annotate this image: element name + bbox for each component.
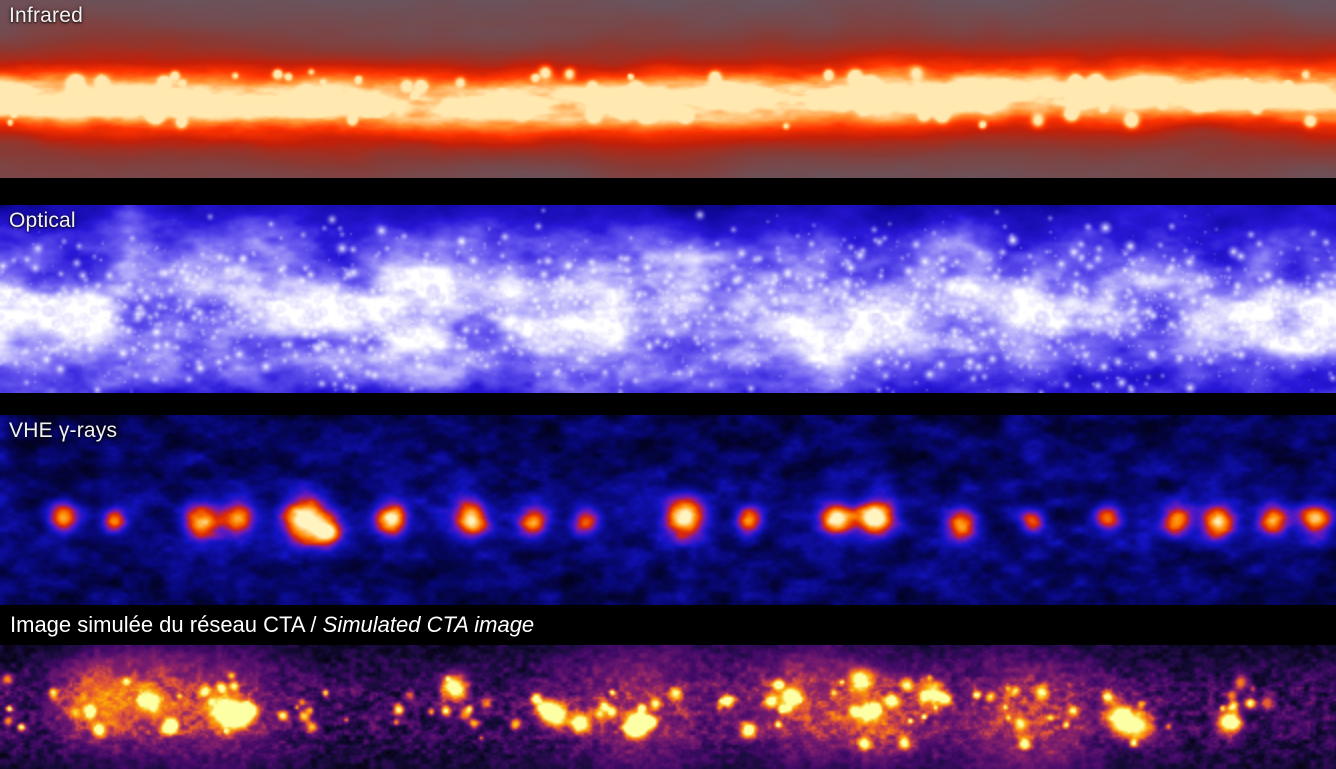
cta-caption: Image simulée du réseau CTA / Simulated … (0, 612, 534, 638)
caption-band: Image simulée du réseau CTA / Simulated … (0, 605, 1336, 645)
multiwavelength-figure: Infrared Optical VHE γ-rays Image simulé… (0, 0, 1336, 769)
panel-optical: Optical (0, 205, 1336, 393)
caption-english: Simulated CTA image (323, 612, 535, 637)
panel-vhe-gamma-rays: VHE γ-rays (0, 415, 1336, 605)
simulated-cta-sky-image (0, 645, 1336, 769)
panel-infrared: Infrared (0, 0, 1336, 178)
caption-french: Image simulée du réseau CTA / (10, 612, 323, 637)
panel-gap-1 (0, 178, 1336, 205)
vhe-gamma-ray-sky-image (0, 415, 1336, 605)
infrared-sky-image (0, 0, 1336, 178)
panel-simulated-cta (0, 645, 1336, 769)
optical-sky-image (0, 205, 1336, 393)
panel-gap-2 (0, 393, 1336, 415)
